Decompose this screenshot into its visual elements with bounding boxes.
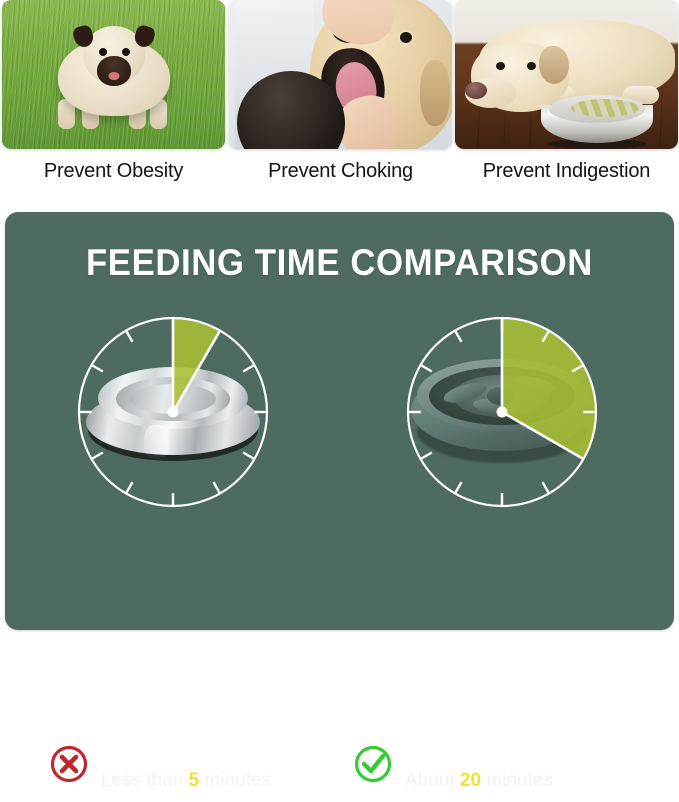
photo-hand-opening-dog-mouth [229, 0, 452, 149]
circle-x-icon [49, 744, 89, 784]
clock-center-dot [497, 407, 508, 418]
clock-tick [92, 366, 102, 372]
clock-tick [421, 453, 431, 459]
legend-sub-suffix: minutes [199, 770, 271, 791]
feature-card-prevent-indigestion: Prevent Indigestion [455, 0, 678, 183]
bowl-food [571, 99, 639, 117]
clock-tick [92, 453, 102, 459]
clock-center-dot [168, 407, 179, 418]
pug-eye [122, 48, 130, 56]
clock-tick [421, 366, 431, 372]
clock-tick [456, 482, 462, 492]
photo-labrador-lying-next-to-bowl [455, 0, 678, 149]
dog-ear [420, 60, 450, 126]
clock-tick [243, 453, 253, 459]
pug-tongue [108, 72, 119, 80]
legend-sub-value: 5 [189, 770, 200, 791]
photo-fat-pug-on-grass [2, 0, 225, 149]
legend-sub-suffix: minutes [481, 770, 553, 791]
normal-bowl-clock [68, 307, 278, 517]
clock-tick [214, 482, 220, 492]
legend-title: Normal Bowl [101, 738, 252, 767]
dog-eye [400, 32, 412, 43]
pug-eye [99, 48, 107, 56]
feeding-time-comparison-panel: FEEDING TIME COMPARISON [5, 212, 674, 630]
feature-caption: Prevent Indigestion [455, 160, 678, 183]
labrador-ear [539, 46, 569, 84]
labrador-eye [496, 62, 505, 70]
clock-tick [543, 482, 549, 492]
labrador-eye [527, 62, 536, 70]
legend-sub-prefix: About [405, 770, 460, 791]
clock-tick [243, 366, 253, 372]
circle-check-icon [353, 744, 393, 784]
legend-sub-value: 20 [460, 770, 481, 791]
clock-tick [456, 331, 462, 341]
feature-row: Prevent Obesity Prevent Choking [0, 0, 679, 196]
clock-dial-slow [397, 307, 607, 517]
feature-caption: Prevent Obesity [2, 160, 225, 183]
legend-sub-prefix: Less than [101, 770, 189, 791]
panel-title: FEEDING TIME COMPARISON [25, 242, 654, 284]
clock-tick [127, 331, 133, 341]
legend-subtitle: About 20 minutes [405, 770, 553, 792]
clock-dial-normal [68, 307, 278, 517]
legend-title: Slow Feeding Bowl [405, 738, 629, 767]
feature-card-prevent-obesity: Prevent Obesity [2, 0, 225, 183]
steel-food-bowl [541, 95, 653, 147]
bowl-rim [549, 95, 645, 123]
feature-card-prevent-choking: Prevent Choking [229, 0, 452, 183]
pug-muzzle [97, 56, 131, 86]
slow-feeding-bowl-clock [397, 307, 607, 517]
clock-tick [127, 482, 133, 492]
feature-caption: Prevent Choking [229, 160, 452, 183]
legend-subtitle: Less than 5 minutes [101, 770, 271, 792]
labrador-nose [465, 82, 487, 99]
